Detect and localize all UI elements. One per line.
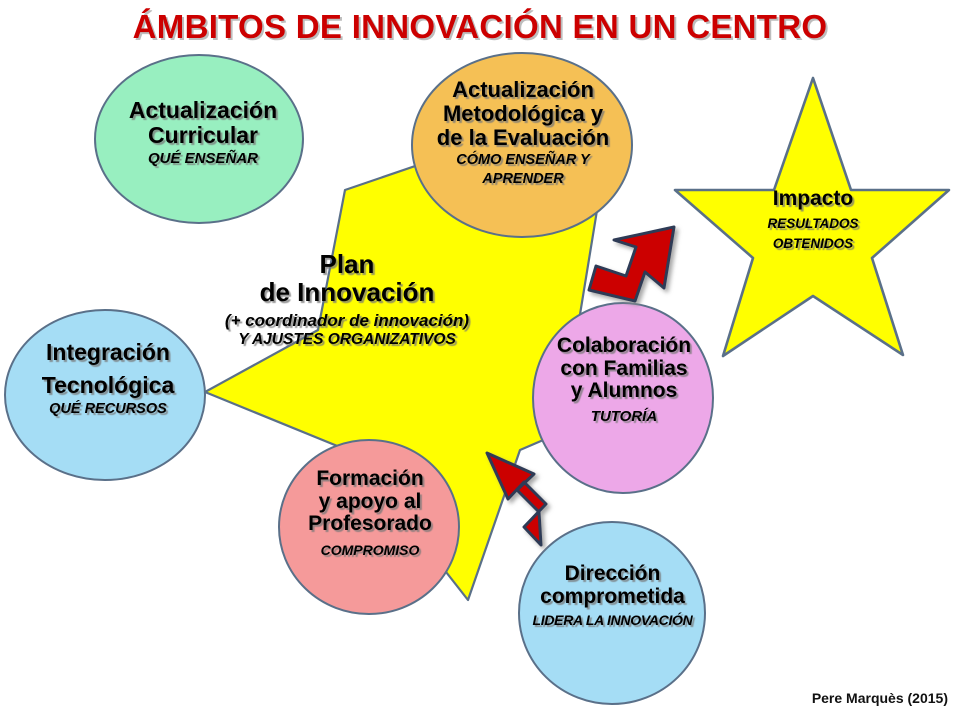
diagram-vector-layer [0,0,960,720]
node-shape-direccion[interactable] [519,522,705,704]
node-shape-colaboracion[interactable] [533,303,713,493]
credit-line: Pere Marquès (2015) [812,690,948,706]
diagram-canvas: ÁMBITOS DE INNOVACIÓN EN UN CENTRO Actua… [0,0,960,720]
arrow-to-impact [589,227,674,301]
node-shape-integracion[interactable] [5,310,205,480]
node-shape-curricular[interactable] [95,55,303,223]
node-shape-formacion[interactable] [279,440,459,614]
node-shape-metodologica[interactable] [412,53,632,237]
impacto-star-shape [675,78,949,356]
page-title: ÁMBITOS DE INNOVACIÓN EN UN CENTRO [0,8,960,46]
